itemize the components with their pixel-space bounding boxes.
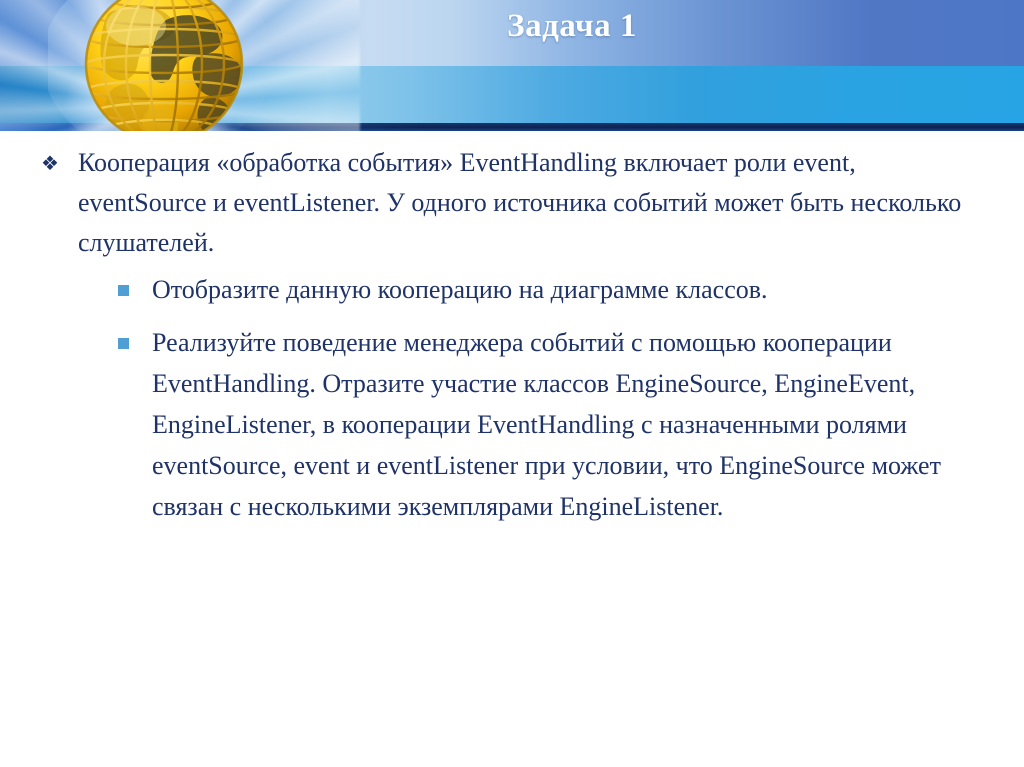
- header-navy-rule-highlight: [0, 123, 420, 131]
- diamond-bullet-icon: ❖: [41, 145, 63, 183]
- bullet-level1-item: ❖ Кооперация «обработка события» EventHa…: [0, 143, 1024, 263]
- square-bullet-icon: [118, 338, 129, 349]
- page-title: Задача 1: [0, 8, 1024, 45]
- presentation-slide: Задача 1 ❖ Кооперация «обработка события…: [0, 0, 1024, 767]
- bullet-level1-text: Кооперация «обработка события» EventHand…: [78, 148, 961, 257]
- slide-header-banner: Задача 1: [0, 0, 1024, 131]
- bullet-level2-item-1: Отобразите данную кооперацию на диаграмм…: [0, 269, 1024, 310]
- body-top-spacer: [0, 131, 1024, 143]
- slide-body: ❖ Кооперация «обработка события» EventHa…: [0, 131, 1024, 527]
- square-bullet-icon: [118, 285, 129, 296]
- bullet-level2-text-2: Реализуйте поведение менеджера событий с…: [152, 328, 941, 521]
- bullet-gap-2: [0, 310, 1024, 322]
- header-band-lower: [0, 66, 1024, 123]
- bullet-level2-text-1: Отобразите данную кооперацию на диаграмм…: [152, 275, 768, 304]
- bullet-level2-item-2: Реализуйте поведение менеджера событий с…: [0, 322, 1024, 527]
